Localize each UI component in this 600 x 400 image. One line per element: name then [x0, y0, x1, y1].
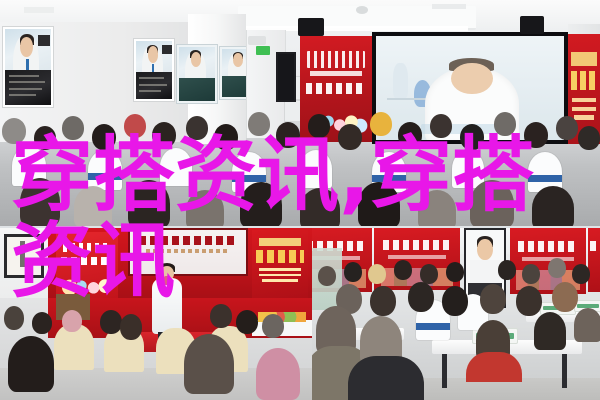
chair [160, 148, 192, 186]
speaker-box [520, 16, 544, 34]
audience-head [398, 122, 422, 148]
audience-head [20, 178, 60, 226]
audience-head [74, 186, 112, 226]
audience-head [442, 286, 468, 316]
audience-head [318, 266, 336, 286]
audience-head [578, 126, 600, 150]
anniversary-headline [139, 236, 236, 245]
microphone [164, 276, 169, 285]
audience-head [210, 304, 232, 328]
audience-head [240, 182, 282, 226]
audience-head [494, 112, 516, 136]
audience-head [186, 116, 208, 140]
speaker-box [298, 18, 324, 36]
audience-head [480, 284, 506, 314]
speaker-white-coat [152, 278, 182, 334]
chair [88, 150, 122, 190]
audience-head [186, 190, 224, 226]
ceiling-spotlight [356, 6, 368, 14]
audience-head [34, 126, 56, 150]
audience-head [498, 260, 516, 280]
audience-head [120, 314, 142, 340]
audience-head [370, 112, 392, 136]
gold-red-banner [252, 230, 308, 298]
audience-head [470, 180, 514, 226]
audience-head [100, 310, 122, 334]
maiya-logo [63, 243, 110, 252]
audience-head [300, 188, 340, 226]
audience-head [418, 190, 456, 226]
maiya-logo [307, 51, 365, 68]
audience-head [152, 122, 176, 148]
audience-head [124, 114, 146, 138]
photo-conference-hall [0, 0, 600, 226]
audience-head [62, 310, 82, 332]
red-banner [588, 228, 600, 292]
ceiling-projector [248, 36, 266, 45]
image-collage: 穿搭资讯,穿搭资讯 [0, 0, 600, 400]
audience-head [446, 262, 464, 282]
audience-head [276, 122, 300, 148]
audience-head [430, 114, 452, 138]
audience-head [248, 112, 270, 136]
audience-head [62, 116, 84, 140]
audience-head [548, 258, 566, 278]
red-banner [510, 228, 586, 294]
maiya-red-banner [56, 232, 118, 298]
framed-calligraphy [4, 234, 44, 278]
audience-head [8, 336, 54, 392]
audience-head [516, 286, 542, 316]
wall-frame [276, 52, 296, 102]
audience-head [420, 264, 438, 284]
audience-head [2, 118, 26, 144]
wall-poster [2, 26, 54, 108]
audience-body [348, 356, 424, 400]
audience-head [128, 180, 170, 226]
audience-head [394, 260, 412, 280]
audience-head [572, 264, 590, 284]
audience-head [522, 264, 540, 284]
wall-poster [176, 44, 218, 104]
audience-head [262, 314, 284, 338]
audience-head [358, 182, 400, 226]
audience-head [32, 312, 52, 334]
ceiling-vent [432, 4, 466, 9]
photo-stage-speaker [0, 228, 312, 400]
red-banner [374, 228, 460, 290]
audience-head [524, 122, 548, 148]
audience-head [552, 282, 578, 312]
audience-head [574, 308, 600, 342]
audience-head [338, 124, 362, 150]
audience-head [256, 348, 300, 400]
audience-body [466, 352, 522, 382]
chair [300, 150, 332, 188]
audience-head [236, 310, 258, 334]
exit-sign [256, 46, 270, 55]
audience-head [532, 186, 574, 226]
ceiling-vent [24, 7, 54, 13]
photo-seated-audience [312, 228, 600, 400]
audience-head [184, 334, 234, 394]
audience-head [4, 306, 24, 330]
stage-projection-screen [128, 228, 248, 276]
audience-head [368, 264, 386, 284]
audience-head [214, 124, 238, 150]
audience-head [344, 262, 362, 282]
chair [452, 150, 484, 188]
wall-poster [133, 38, 175, 102]
audience-head [556, 116, 578, 140]
audience-head [92, 124, 116, 150]
audience-head [534, 312, 566, 350]
audience-head [370, 286, 396, 316]
audience-head [460, 124, 484, 150]
audience-head [408, 282, 434, 312]
audience-head [308, 114, 330, 138]
